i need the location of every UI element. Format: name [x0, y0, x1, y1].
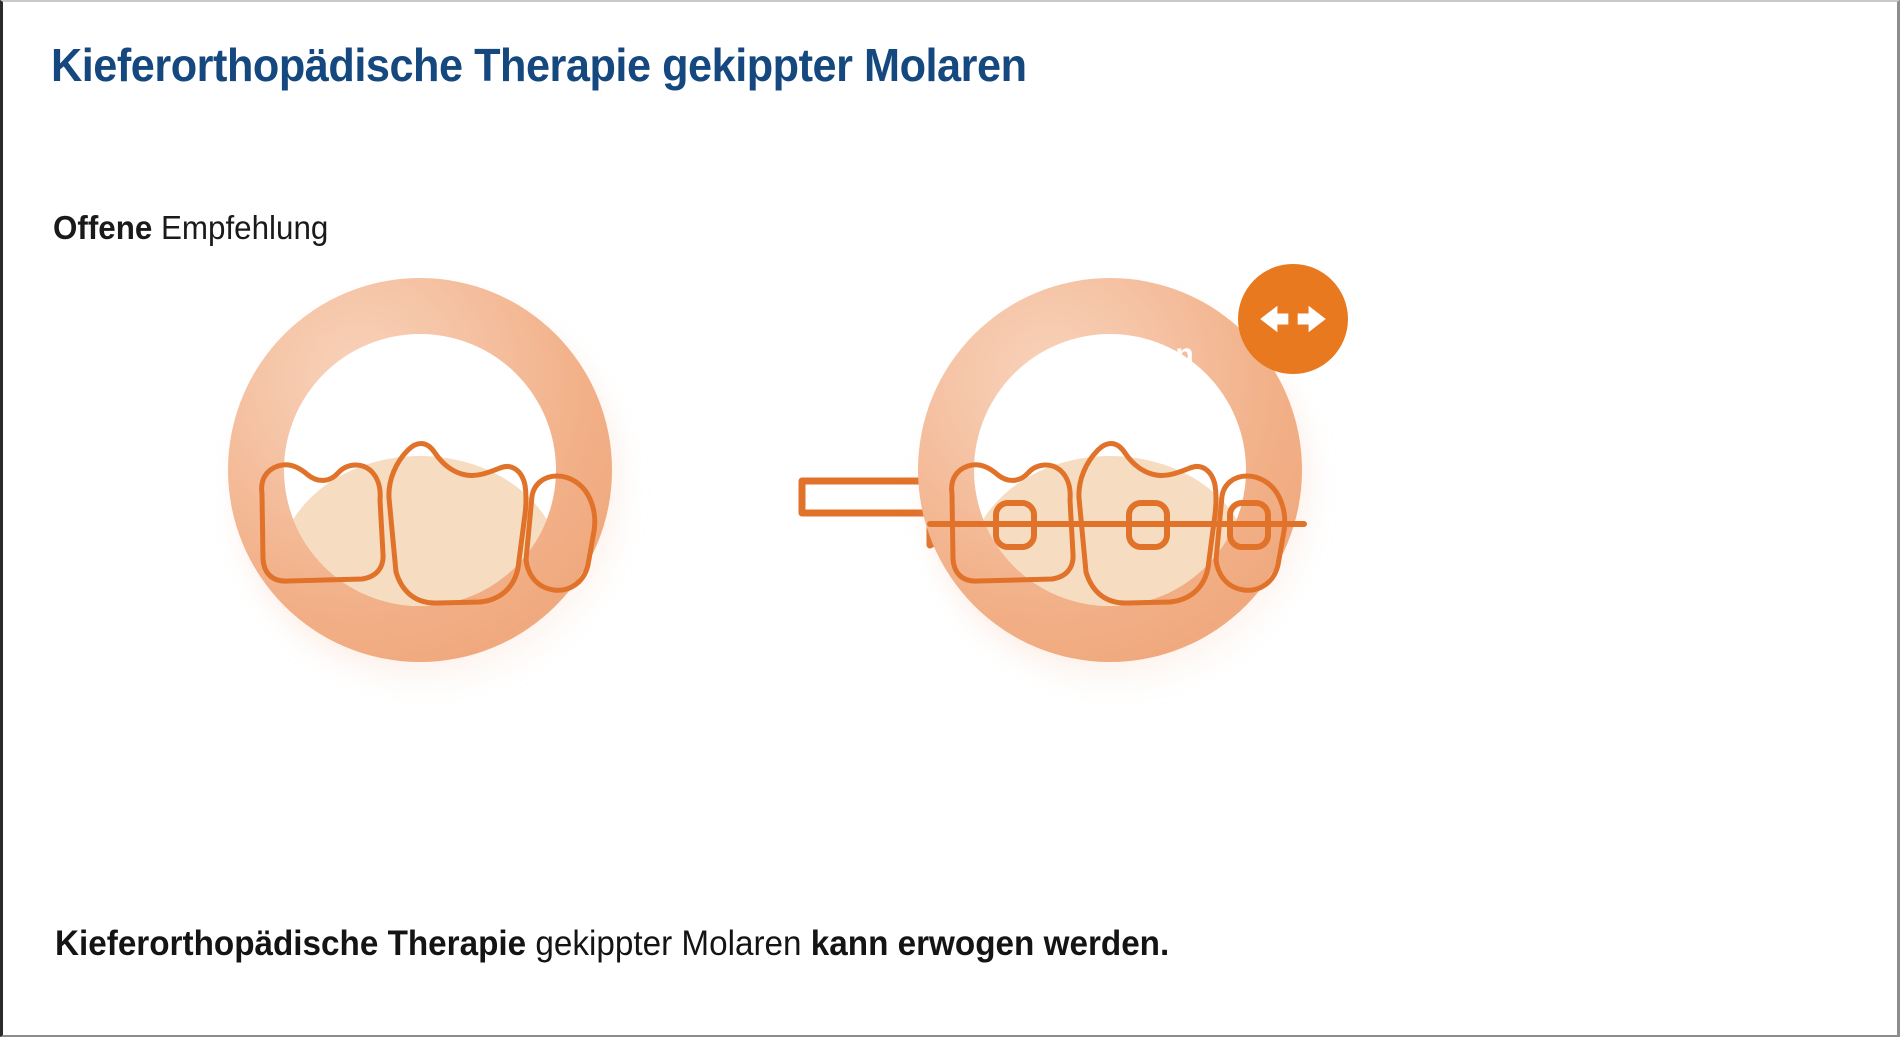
tooth-outline-3-tipped: [526, 476, 595, 590]
figure-before: [208, 252, 638, 682]
figure-after: Offen: [898, 252, 1328, 682]
teeth-illustration-after: [916, 372, 1316, 632]
tooth-outline-3-tipped: [1216, 476, 1285, 590]
subtitle-strong: Offene: [53, 209, 152, 246]
page-title: Kieferorthopädische Therapie gekippter M…: [51, 38, 1027, 92]
double-arrow-horizontal-icon: [1254, 280, 1332, 358]
status-badge: [1238, 264, 1348, 374]
tooth-outline-2: [389, 444, 526, 604]
caption-part-3: kann erwogen werden.: [811, 924, 1169, 963]
slide-canvas: Kieferorthopädische Therapie gekippter M…: [0, 0, 1900, 1037]
caption: Kieferorthopädische Therapie gekippter M…: [55, 924, 1169, 964]
teeth-illustration-before: [226, 372, 626, 632]
tooth-outline-1: [262, 465, 383, 581]
caption-part-2: gekippter Molaren: [526, 924, 811, 963]
recommendation-subtitle: Offene Empfehlung: [53, 209, 328, 247]
caption-part-1: Kieferorthopädische Therapie: [55, 924, 526, 963]
illustration-stage: Offen: [3, 252, 1900, 732]
subtitle-light: Empfehlung: [152, 209, 328, 246]
